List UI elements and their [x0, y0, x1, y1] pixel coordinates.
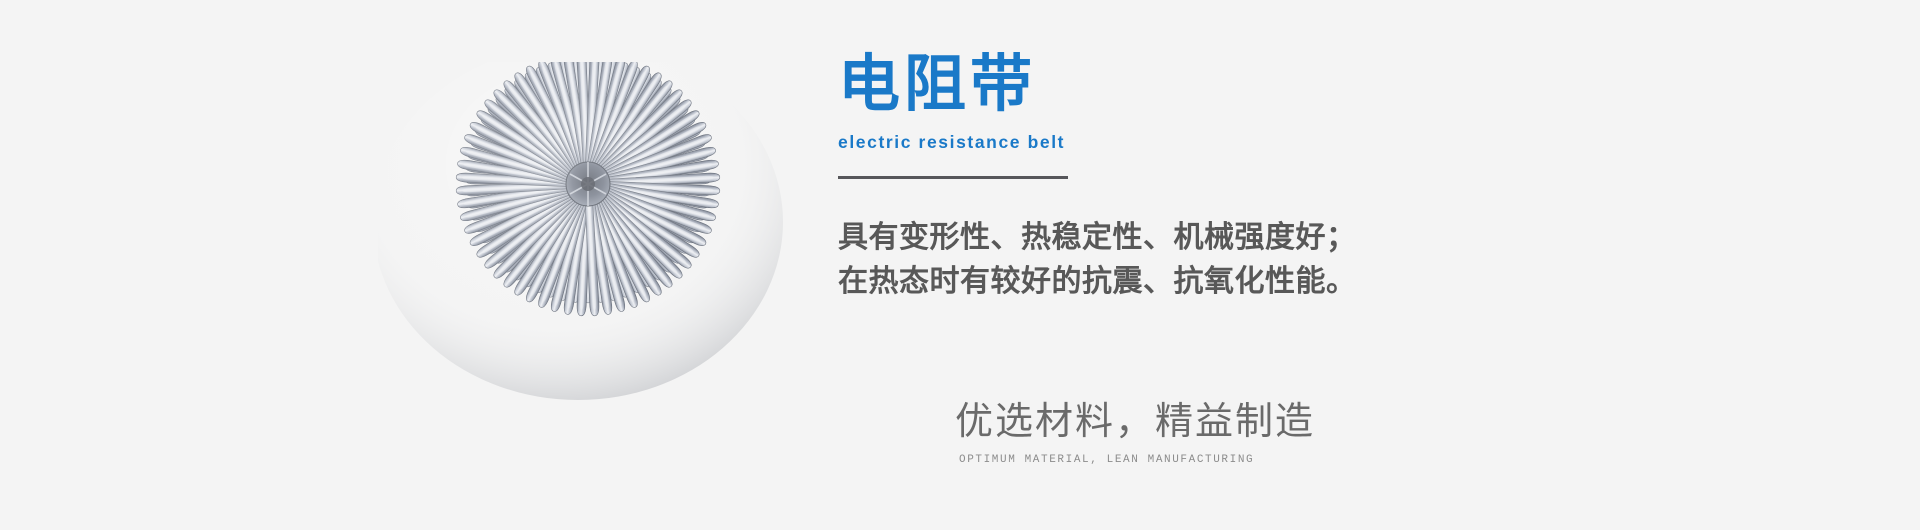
product-banner: 电阻带 electric resistance belt 具有变形性、热稳定性、… [0, 0, 1920, 530]
slogan-english: OPTIMUM MATERIAL, LEAN MANUFACTURING [959, 452, 1475, 468]
description-text: 具有变形性、热稳定性、机械强度好； 在热态时有较好的抗震、抗氧化性能。 [838, 216, 1558, 304]
product-image [378, 62, 798, 430]
resistance-belt-coil-icon [378, 62, 798, 430]
page-title: 电阻带 [838, 48, 1558, 122]
slogan-chinese: 优选材料，精益制造 [955, 398, 1475, 446]
slogan-block: 优选材料，精益制造 OPTIMUM MATERIAL, LEAN MANUFAC… [955, 398, 1475, 468]
copy-column: 电阻带 electric resistance belt 具有变形性、热稳定性、… [838, 48, 1558, 304]
page-subtitle: electric resistance belt [838, 130, 1558, 154]
title-divider [838, 176, 1068, 179]
description-line-1: 具有变形性、热稳定性、机械强度好； [838, 216, 1558, 260]
description-line-2: 在热态时有较好的抗震、抗氧化性能。 [838, 260, 1558, 304]
